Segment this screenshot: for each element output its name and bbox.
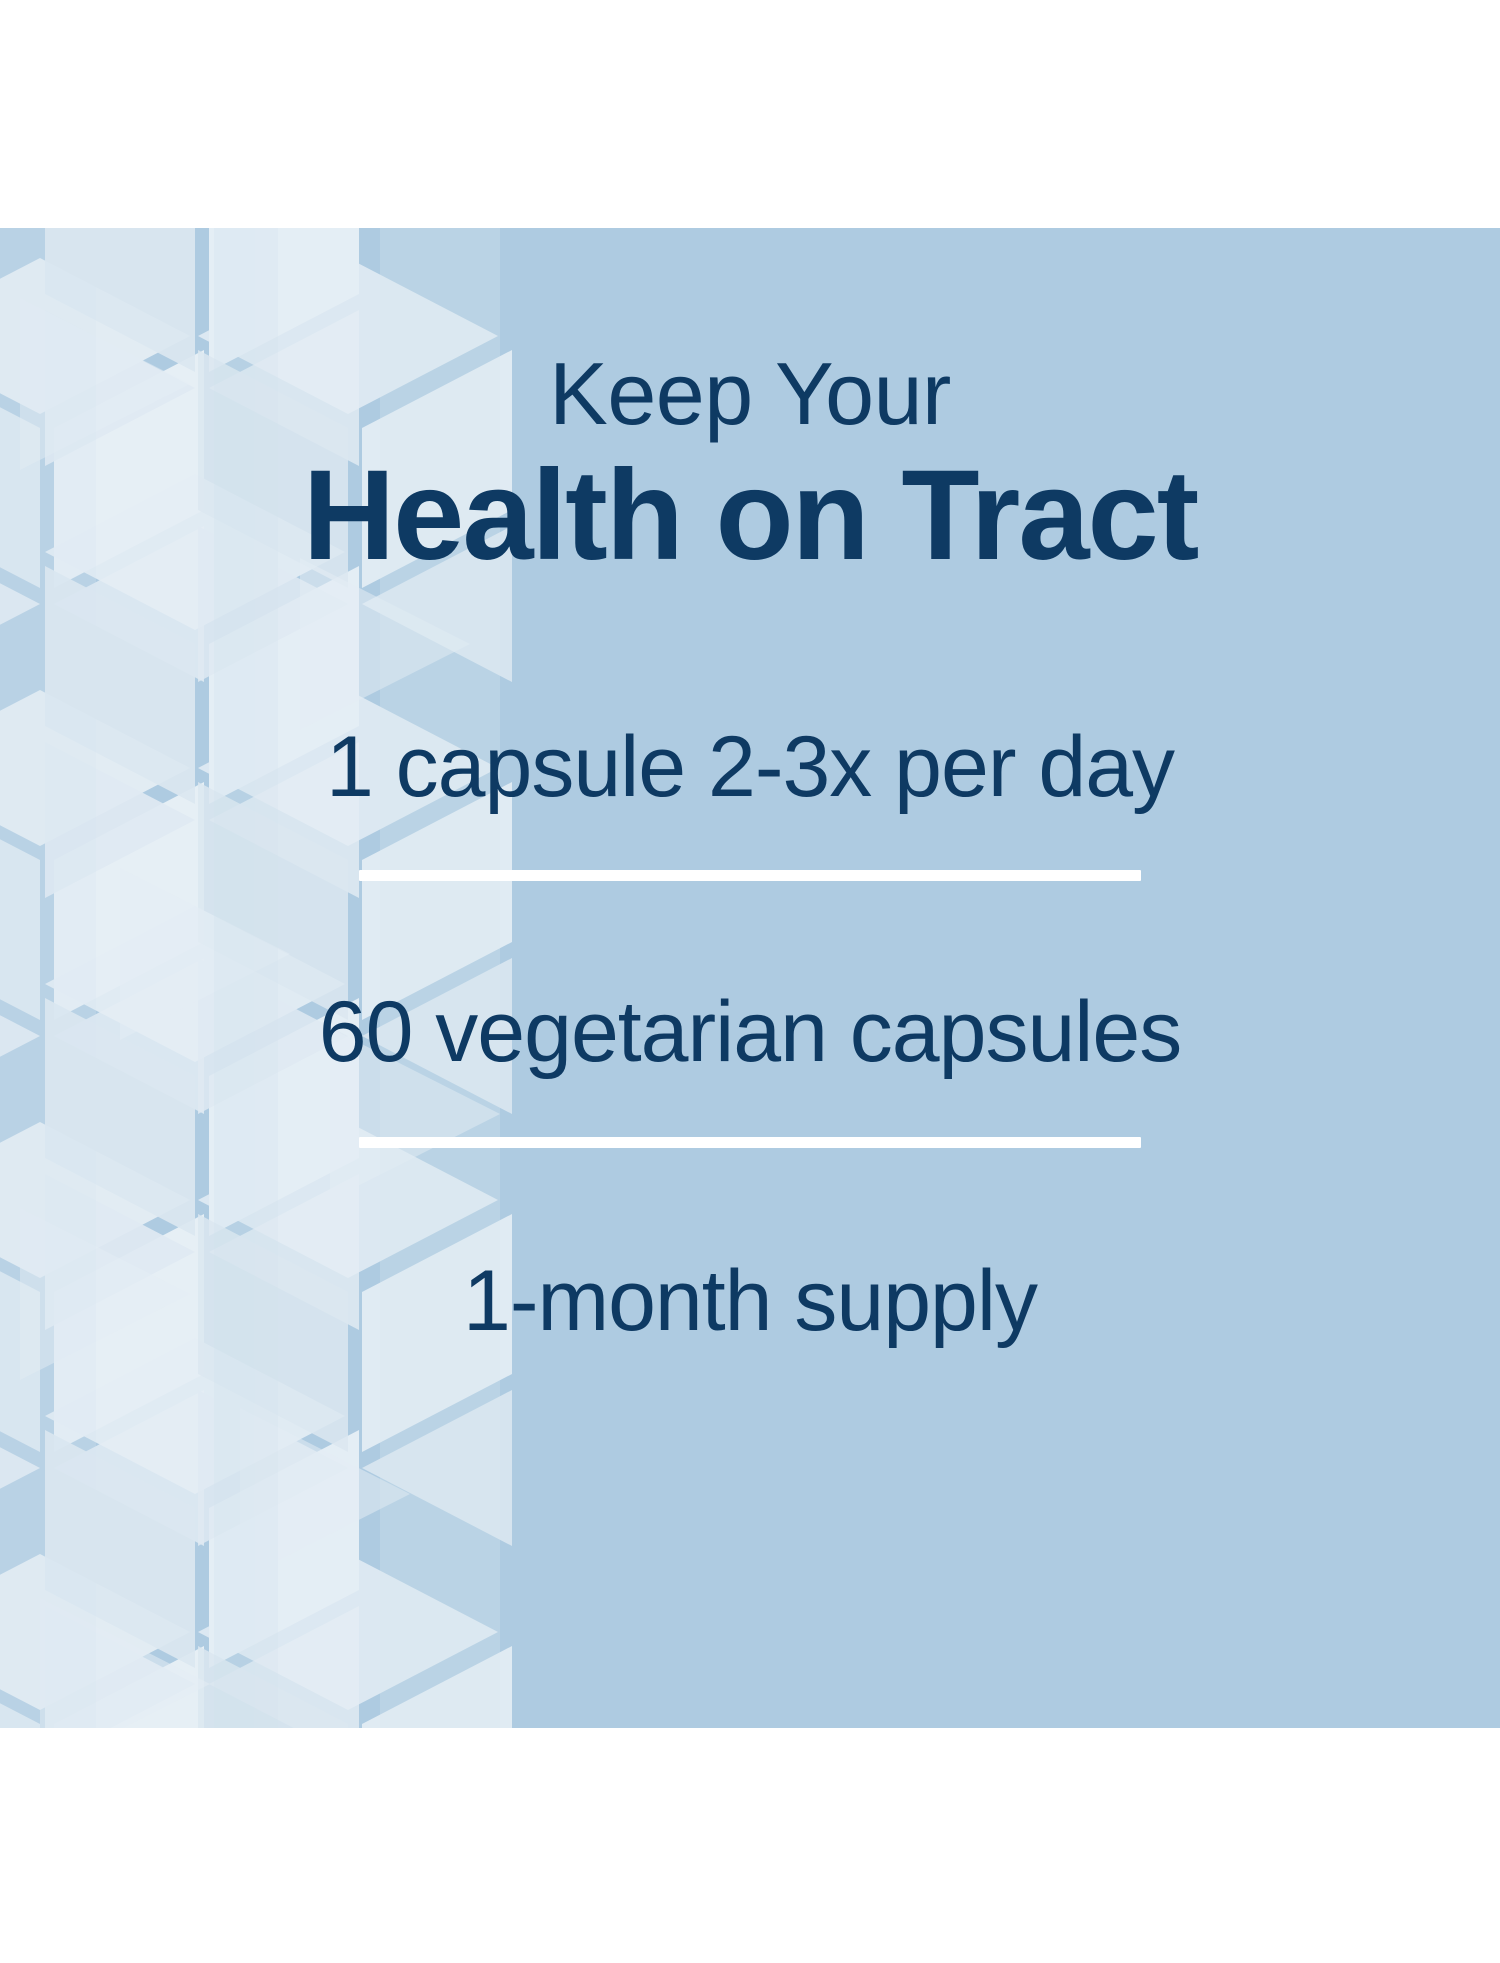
- fact-capsule-count: 60 vegetarian capsules: [319, 989, 1181, 1075]
- fact-dosage: 1 capsule 2-3x per day: [326, 724, 1174, 810]
- product-infographic-page: Keep Your Health on Tract 1 capsule 2-3x…: [0, 0, 1500, 1963]
- fact-supply-duration: 1-month supply: [463, 1258, 1037, 1344]
- blue-info-panel: Keep Your Health on Tract 1 capsule 2-3x…: [0, 228, 1500, 1728]
- eyebrow-text: Keep Your: [549, 350, 951, 438]
- divider-rule-2: [359, 1137, 1141, 1148]
- divider-rule-1: [359, 870, 1141, 881]
- panel-content: Keep Your Health on Tract 1 capsule 2-3x…: [0, 228, 1500, 1728]
- page-title: Health on Tract: [303, 452, 1198, 580]
